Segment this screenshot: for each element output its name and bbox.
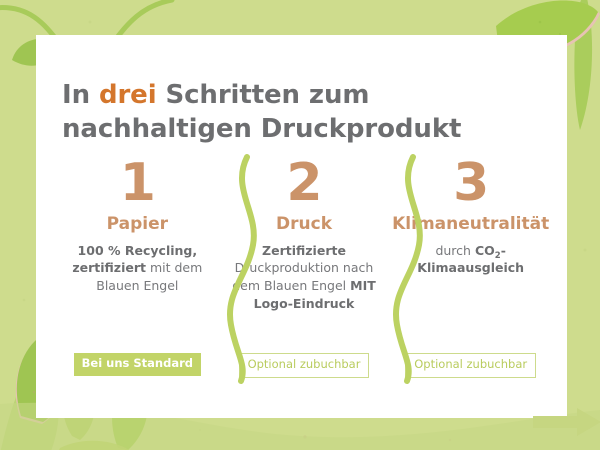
title-line1-before: In [62, 80, 99, 110]
title-accent-word: drei [99, 80, 157, 110]
step-body-3-subscript: 2 [495, 251, 501, 261]
title-line2: nachhaltigen Druckprodukt [62, 114, 461, 144]
steps-row: 1 Papier 100 % Recycling, zertifiziert m… [54, 157, 554, 397]
page-title: In drei Schritten zumnachhaltigen Druckp… [62, 79, 532, 146]
status-badge-1[interactable]: Bei uns Standard [74, 353, 201, 376]
step-body-1-bold-2: zertifiziert [72, 260, 146, 275]
badge-slot-1: Bei uns Standard [54, 353, 221, 376]
wavy-divider-icon-1 [221, 153, 265, 385]
step-card-1: 1 Papier 100 % Recycling, zertifiziert m… [54, 157, 221, 397]
arrow-right-icon[interactable] [533, 408, 600, 436]
step-number-1: 1 [54, 157, 221, 209]
step-body-1-bold-1: 100 % Recycling, [78, 243, 198, 258]
wavy-divider-icon-2 [387, 153, 431, 385]
title-line1-after: Schritten zum [157, 80, 370, 110]
step-heading-1: Papier [54, 215, 221, 235]
step-body-1: 100 % Recycling, zertifiziert mit dem Bl… [62, 242, 212, 295]
content-card: In drei Schritten zumnachhaltigen Druckp… [36, 35, 567, 418]
step-body-2-bold-1: Zertifizierte [262, 243, 346, 258]
step-body-3-bold-1: CO [475, 243, 495, 258]
step-body-3-regular: durch [435, 243, 475, 258]
